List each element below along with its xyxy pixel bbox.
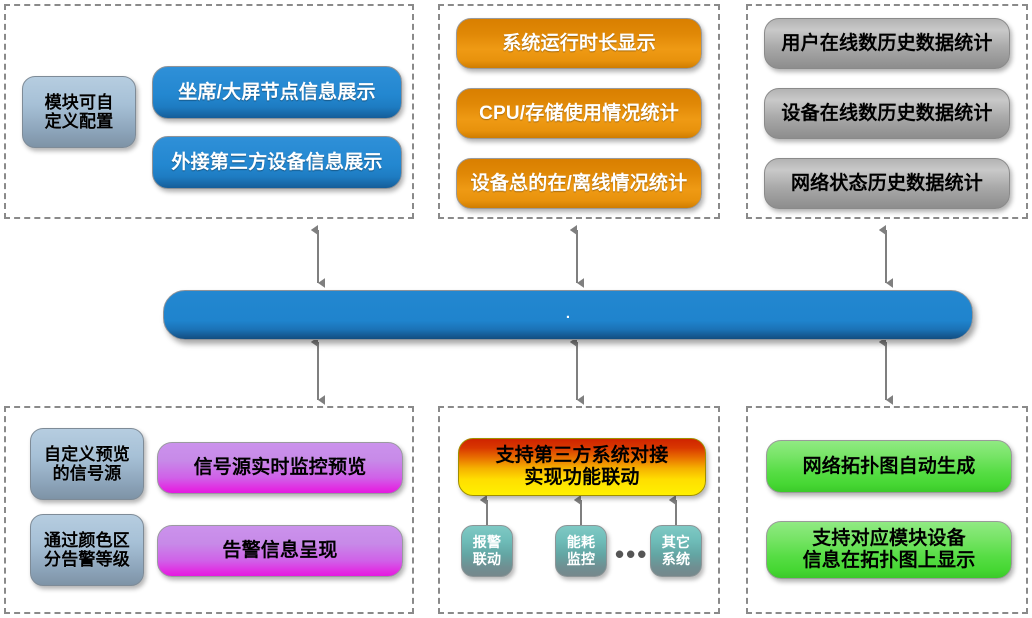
ellipsis-more-systems: ••• — [615, 541, 648, 567]
third-party-device-info[interactable]: 外接第三方设备信息展示 — [152, 136, 402, 189]
device-online-offline-stats[interactable]: 设备总的在/离线情况统计 — [456, 158, 702, 209]
other-system[interactable]: 其它 系统 — [650, 525, 702, 577]
module-custom-config[interactable]: 模块可自 定义配置 — [22, 76, 136, 148]
central-platform-bar[interactable]: . — [163, 290, 973, 340]
custom-preview-signal-source[interactable]: 自定义预览 的信号源 — [30, 428, 144, 500]
auto-generate-network-topology[interactable]: 网络拓扑图自动生成 — [766, 440, 1012, 493]
third-party-system-integration[interactable]: 支持第三方系统对接 实现功能联动 — [458, 438, 706, 496]
alarm-linkage-system[interactable]: 报警 联动 — [461, 525, 513, 577]
hub-label: . — [566, 312, 570, 315]
signal-realtime-monitor-preview[interactable]: 信号源实时监控预览 — [157, 442, 403, 494]
cpu-storage-usage-stats[interactable]: CPU/存储使用情况统计 — [456, 88, 702, 139]
network-status-history-stats[interactable]: 网络状态历史数据统计 — [764, 158, 1010, 209]
color-coded-alarm-level[interactable]: 通过颜色区 分告警等级 — [30, 514, 144, 586]
alarm-info-presentation[interactable]: 告警信息呈现 — [157, 525, 403, 577]
energy-monitor-system[interactable]: 能耗 监控 — [555, 525, 607, 577]
module-device-info-on-topology[interactable]: 支持对应模块设备 信息在拓扑图上显示 — [766, 521, 1012, 579]
system-uptime-display[interactable]: 系统运行时长显示 — [456, 18, 702, 69]
panel-network-topology — [746, 406, 1028, 614]
device-online-history-stats[interactable]: 设备在线数历史数据统计 — [764, 88, 1010, 139]
diagram-canvas: 模块可自 定义配置 坐席/大屏节点信息展示 外接第三方设备信息展示 系统运行时长… — [0, 0, 1032, 618]
seat-bigscreen-node-info[interactable]: 坐席/大屏节点信息展示 — [152, 66, 402, 119]
user-online-history-stats[interactable]: 用户在线数历史数据统计 — [764, 18, 1010, 69]
